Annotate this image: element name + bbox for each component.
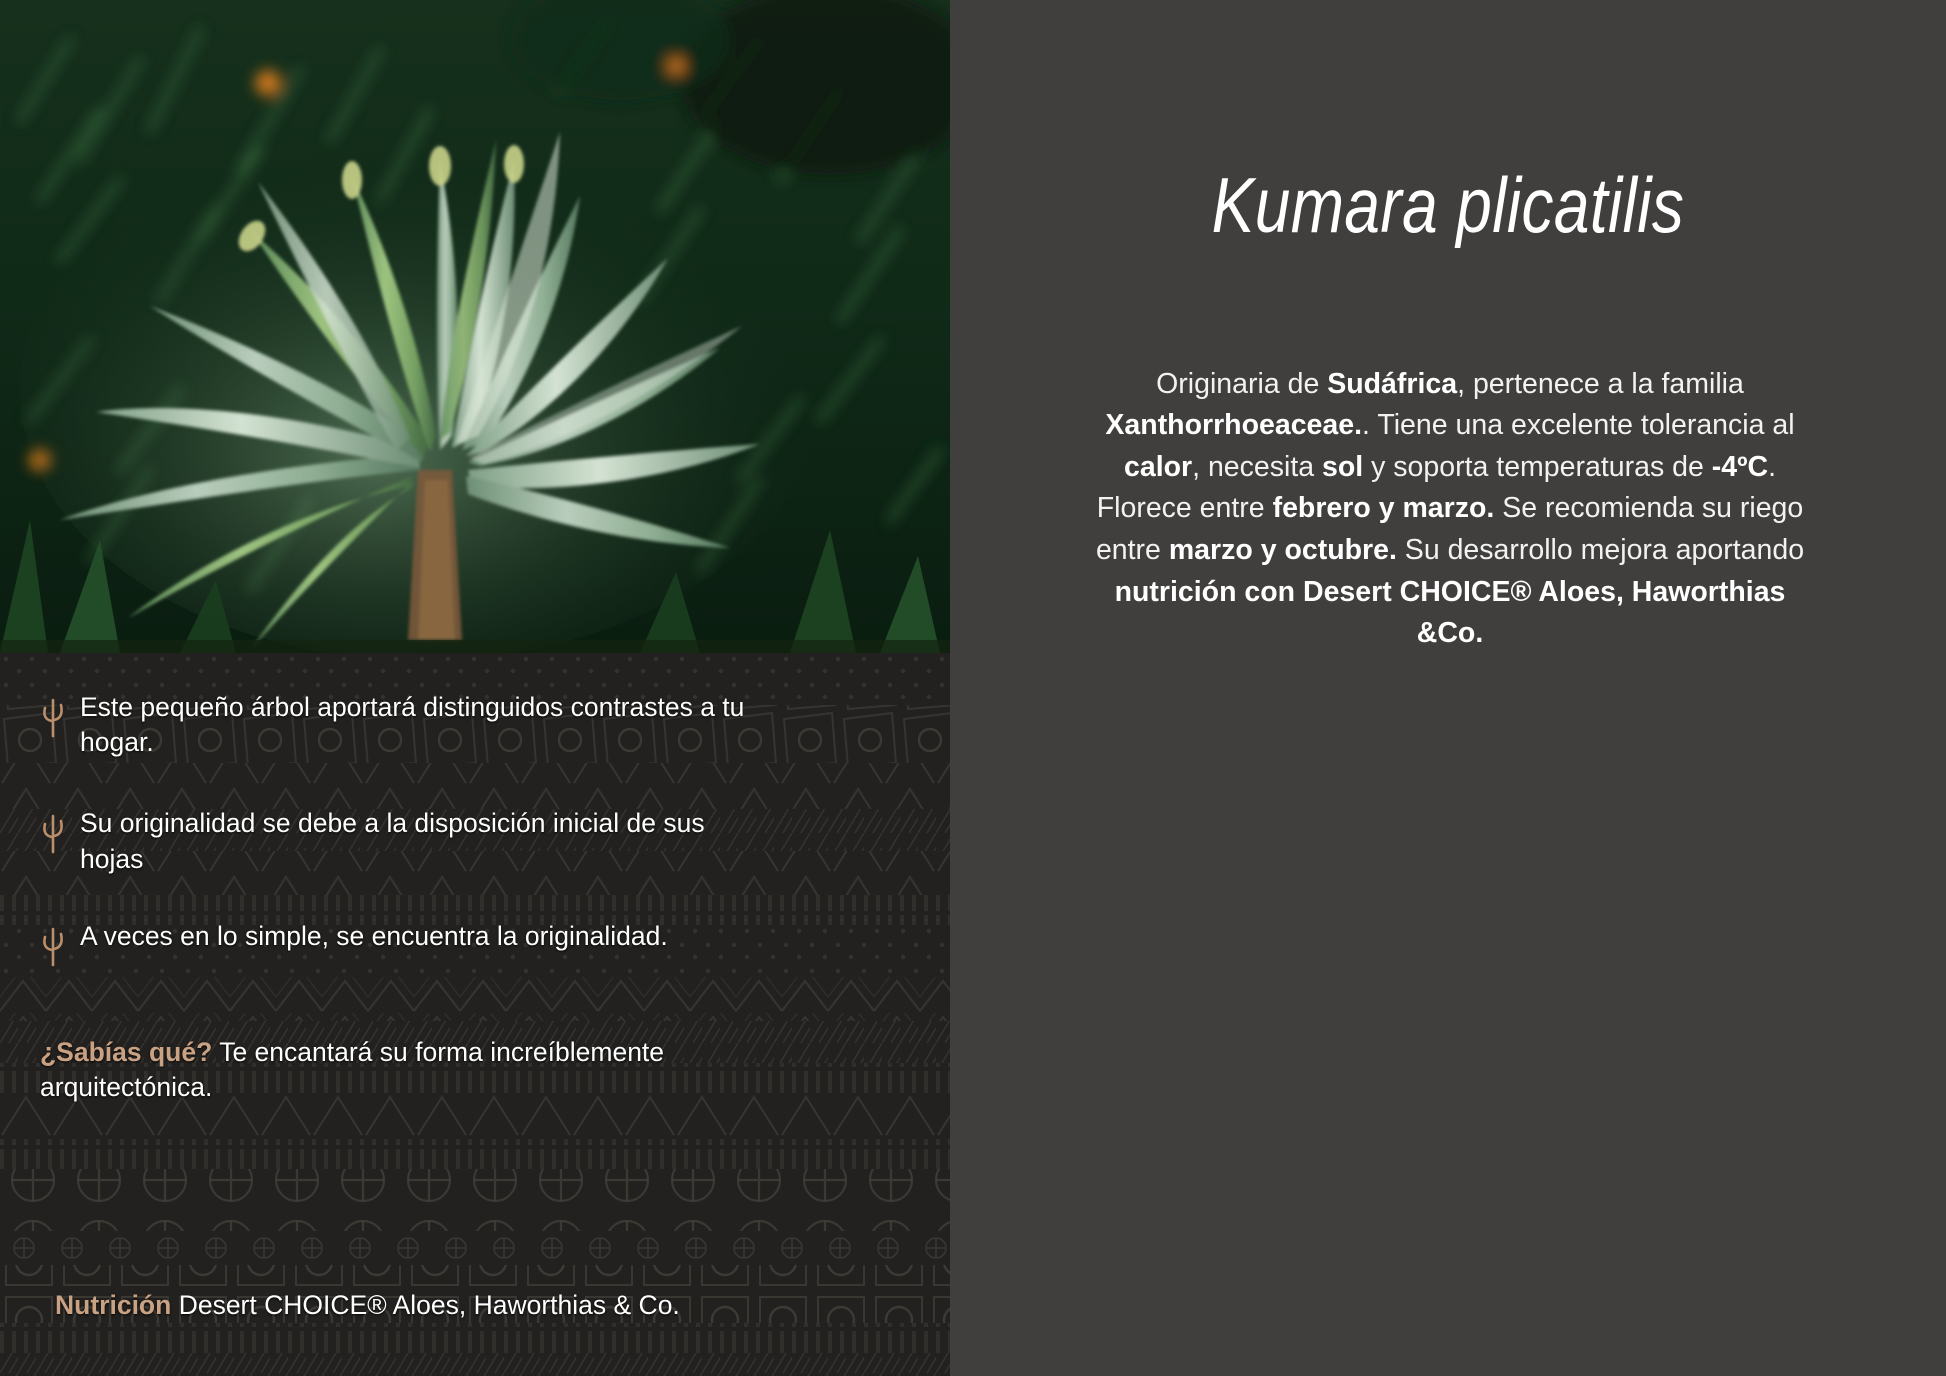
description-text: , necesita	[1192, 451, 1322, 483]
description-emphasis: -4ºC	[1712, 451, 1768, 483]
list-item-label: Su originalidad se debe a la disposición…	[80, 806, 770, 876]
list-item-label: Este pequeño árbol aportará distinguidos…	[80, 690, 770, 760]
description-emphasis: marzo y octubre.	[1169, 534, 1397, 566]
description-emphasis: calor	[1124, 451, 1192, 483]
left-panel: Este pequeño árbol aportará distinguidos…	[0, 0, 950, 1376]
cactus-icon	[40, 923, 66, 969]
nutrition-text: Desert CHOICE® Aloes, Haworthias & Co.	[179, 1290, 680, 1320]
nutrition-label: Nutrición	[55, 1290, 171, 1320]
did-you-know-label: ¿Sabías qué?	[40, 1037, 212, 1067]
list-item: A veces en lo simple, se encuentra la or…	[0, 919, 950, 969]
right-panel: Kumara plicatilis Originaria de Sudáfric…	[950, 0, 1946, 1376]
description-text: . Tiene una excelente tolerancia al	[1362, 409, 1795, 441]
description-emphasis: febrero y marzo.	[1273, 492, 1495, 524]
page-title: Kumara plicatilis	[1040, 160, 1857, 251]
list-item: Su originalidad se debe a la disposición…	[0, 806, 950, 876]
did-you-know-block: ¿Sabías qué? Te encantará su forma incre…	[40, 1035, 780, 1105]
feature-bullet-list: Este pequeño árbol aportará distinguidos…	[0, 690, 950, 1007]
nutrition-line: Nutrición Desert CHOICE® Aloes, Haworthi…	[55, 1290, 935, 1321]
description-text: , pertenece a la familia	[1457, 368, 1744, 400]
plant-photo	[0, 0, 950, 653]
cactus-icon	[40, 810, 66, 856]
description-emphasis: sol	[1322, 451, 1363, 483]
description-text: Originaria de	[1156, 368, 1327, 400]
cactus-icon	[40, 694, 66, 740]
list-item: Este pequeño árbol aportará distinguidos…	[0, 690, 950, 760]
plant-description: Originaria de Sudáfrica, pertenece a la …	[1080, 364, 1820, 655]
description-emphasis: Xanthorrhoeaceae.	[1105, 409, 1362, 441]
description-emphasis: Sudáfrica	[1327, 368, 1457, 400]
description-text: y soporta temperaturas de	[1363, 451, 1712, 483]
description-text: Su desarrollo mejora aportando	[1397, 534, 1804, 566]
description-emphasis: nutrición con Desert CHOICE® Aloes, Hawo…	[1115, 576, 1786, 650]
list-item-label: A veces en lo simple, se encuentra la or…	[80, 919, 668, 954]
